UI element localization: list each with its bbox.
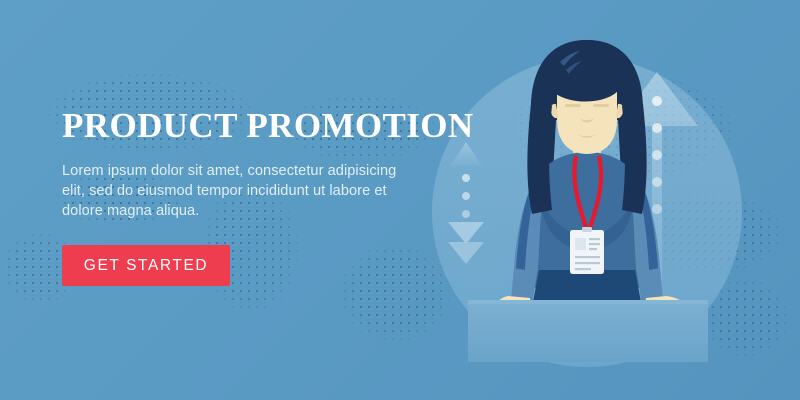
hair-lock-left [527, 104, 552, 214]
promotion-banner: PRODUCT PROMOTION Lorem ipsum dolor sit … [0, 0, 800, 400]
id-badge [570, 227, 604, 274]
podium [468, 300, 708, 362]
illustration-businesswoman [380, 0, 800, 400]
page-title: PRODUCT PROMOTION [62, 108, 422, 145]
hair-lock-right [622, 104, 647, 214]
copy-block: PRODUCT PROMOTION Lorem ipsum dolor sit … [62, 108, 422, 221]
podium-top-edge [468, 300, 708, 304]
body-text: Lorem ipsum dolor sit amet, consectetur … [62, 161, 397, 221]
get-started-button[interactable]: GET STARTED [62, 245, 230, 286]
